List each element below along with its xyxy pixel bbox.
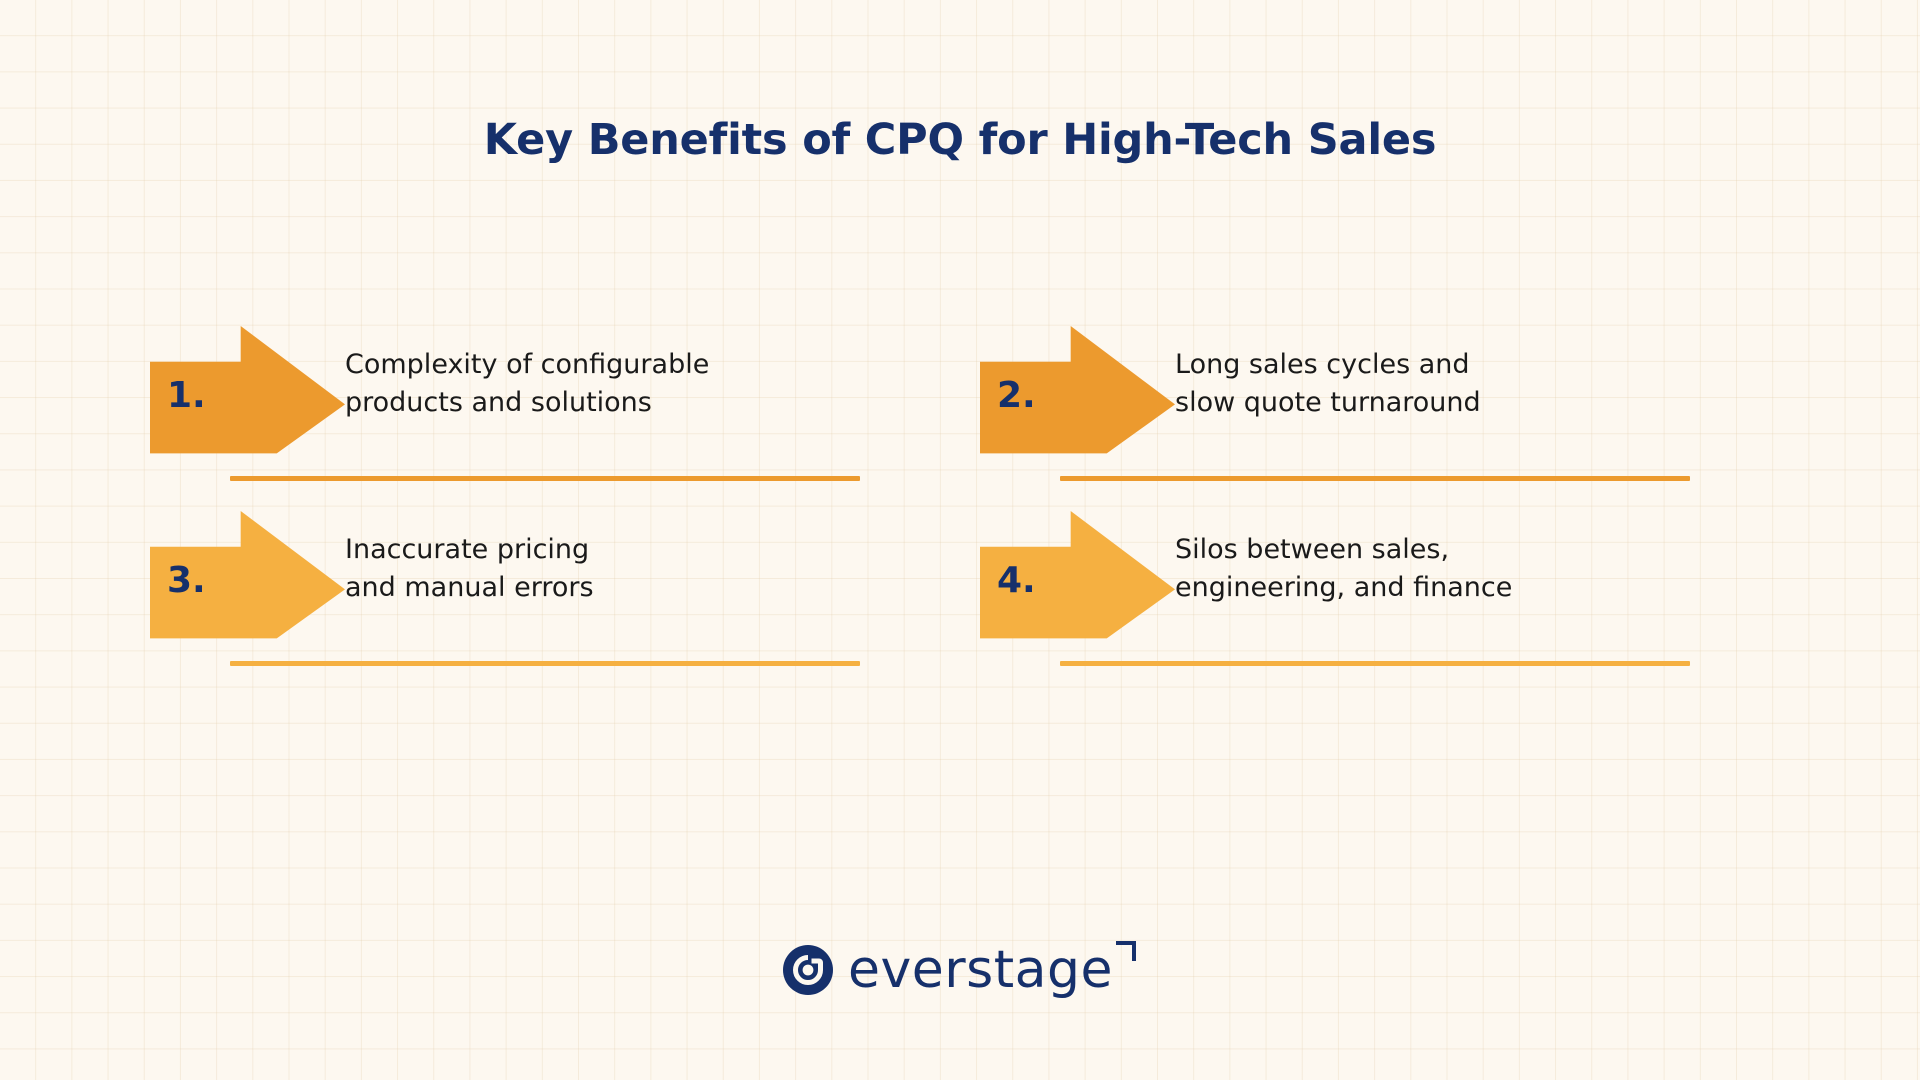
arrow-badge-2: 2. <box>980 326 1175 466</box>
brand-name-text: everstage <box>848 944 1113 996</box>
card-text-3: Inaccurate pricing and manual errors <box>345 503 594 608</box>
card-underline-3 <box>230 661 860 666</box>
card-text-2: Long sales cycles and slow quote turnaro… <box>1175 318 1481 423</box>
benefit-card-1: 1. Complexity of configurable products a… <box>150 318 940 503</box>
card-number-3: 3. <box>167 563 206 599</box>
brand-wordmark: everstage <box>848 944 1137 996</box>
card-underline-2 <box>1060 476 1690 481</box>
card-text-line-2: engineering, and finance <box>1175 569 1512 607</box>
benefits-card-grid: 1. Complexity of configurable products a… <box>150 318 1770 688</box>
brand-logo: everstage <box>0 944 1920 996</box>
card-underline-4 <box>1060 661 1690 666</box>
card-text-line-1: Inaccurate pricing <box>345 531 594 569</box>
card-text-line-2: and manual errors <box>345 569 594 607</box>
everstage-circle-refresh-icon <box>783 945 833 995</box>
card-number-4: 4. <box>997 563 1036 599</box>
card-text-line-1: Complexity of configurable <box>345 346 709 384</box>
arrow-badge-1: 1. <box>150 326 345 466</box>
corner-tick-icon <box>1115 940 1137 962</box>
arrow-badge-3: 3. <box>150 511 345 651</box>
infographic-page: Key Benefits of CPQ for High-Tech Sales … <box>0 0 1920 1080</box>
page-title: Key Benefits of CPQ for High-Tech Sales <box>0 115 1920 167</box>
card-text-1: Complexity of configurable products and … <box>345 318 709 423</box>
benefit-card-4: 4. Silos between sales, engineering, and… <box>980 503 1770 688</box>
card-text-line-1: Long sales cycles and <box>1175 346 1481 384</box>
card-number-2: 2. <box>997 378 1036 414</box>
card-text-4: Silos between sales, engineering, and fi… <box>1175 503 1512 608</box>
card-underline-1 <box>230 476 860 481</box>
card-text-line-2: products and solutions <box>345 384 709 422</box>
benefit-card-2: 2. Long sales cycles and slow quote turn… <box>980 318 1770 503</box>
benefit-card-3: 3. Inaccurate pricing and manual errors <box>150 503 940 688</box>
card-text-line-1: Silos between sales, <box>1175 531 1512 569</box>
arrow-badge-4: 4. <box>980 511 1175 651</box>
card-text-line-2: slow quote turnaround <box>1175 384 1481 422</box>
card-number-1: 1. <box>167 378 206 414</box>
